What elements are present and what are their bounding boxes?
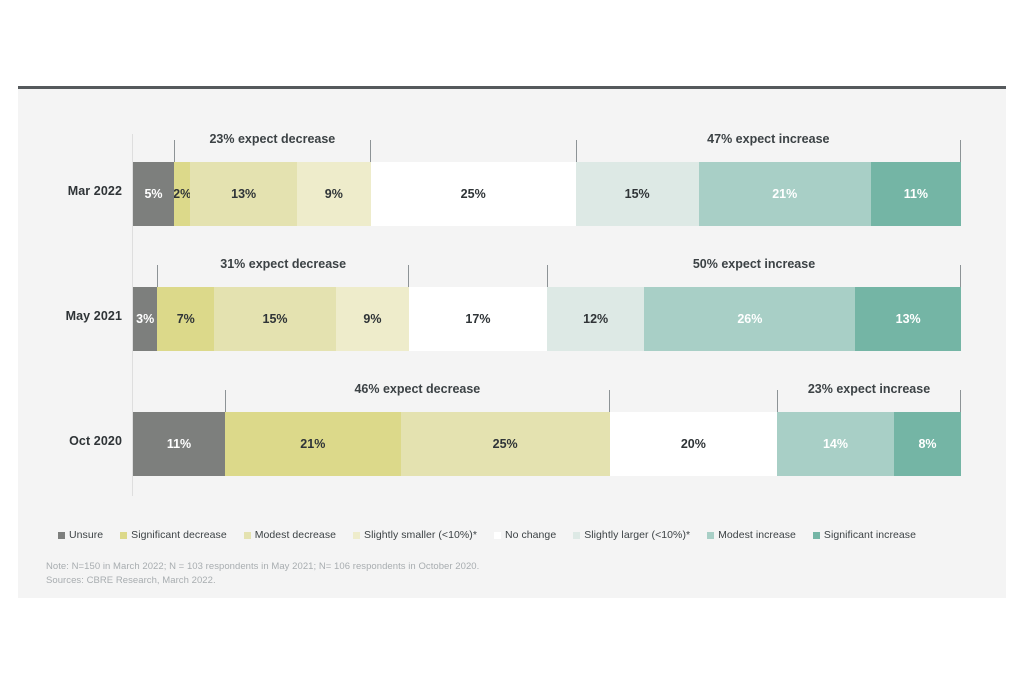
footnote-note: Note: N=150 in March 2022; N = 103 respo… — [46, 560, 986, 574]
legend-label: Slightly larger (<10%)* — [584, 529, 690, 541]
legend-label: Slightly smaller (<10%)* — [364, 529, 477, 541]
bar-segment[interactable]: 13% — [855, 287, 961, 351]
row-label: Oct 2020 — [18, 434, 122, 448]
legend-label: Modest decrease — [255, 529, 336, 541]
legend-item[interactable]: No change — [494, 529, 556, 541]
bar-segment[interactable]: 3% — [133, 287, 157, 351]
bar-segment[interactable]: 2% — [174, 162, 190, 226]
annotation-label-decrease: 31% expect decrease — [158, 257, 408, 271]
row-label: Mar 2022 — [18, 184, 122, 198]
legend-swatch-icon — [244, 532, 251, 539]
legend-label: Modest increase — [718, 529, 796, 541]
bar-segment[interactable]: 26% — [644, 287, 855, 351]
legend-swatch-icon — [813, 532, 820, 539]
legend-swatch-icon — [494, 532, 501, 539]
annotation-label-increase: 47% expect increase — [577, 132, 960, 146]
legend-item[interactable]: Modest increase — [707, 529, 796, 541]
legend-item[interactable]: Slightly larger (<10%)* — [573, 529, 690, 541]
bar-segment[interactable]: 13% — [190, 162, 297, 226]
chart-legend: UnsureSignificant decreaseModest decreas… — [58, 529, 978, 541]
bar-segment[interactable]: 8% — [894, 412, 961, 476]
bar-segment[interactable]: 11% — [871, 162, 961, 226]
annotation-label-decrease: 46% expect decrease — [226, 382, 609, 396]
annotation-bracket-increase: 23% expect increase — [777, 390, 961, 412]
bar-segment[interactable]: 12% — [547, 287, 644, 351]
bar-row: May 20213%7%15%9%17%12%26%13%31% expect … — [18, 259, 1006, 383]
legend-item[interactable]: Significant increase — [813, 529, 916, 541]
legend-swatch-icon — [120, 532, 127, 539]
annotation-label-increase: 50% expect increase — [548, 257, 960, 271]
bar-row: Mar 20225%2%13%9%25%15%21%11%23% expect … — [18, 134, 1006, 258]
legend-label: No change — [505, 529, 556, 541]
legend-swatch-icon — [353, 532, 360, 539]
bar-row: Oct 202011%21%25%20%14%8%46% expect decr… — [18, 384, 1006, 508]
bar-segment[interactable]: 9% — [297, 162, 371, 226]
annotation-bracket-decrease: 31% expect decrease — [157, 265, 409, 287]
bar-segment[interactable]: 25% — [401, 412, 610, 476]
legend-item[interactable]: Significant decrease — [120, 529, 227, 541]
chart-card: Mar 20225%2%13%9%25%15%21%11%23% expect … — [18, 86, 1006, 598]
annotation-label-increase: 23% expect increase — [778, 382, 960, 396]
stacked-bar: 11%21%25%20%14%8% — [133, 412, 961, 476]
footnotes: Note: N=150 in March 2022; N = 103 respo… — [46, 560, 986, 588]
annotation-bracket-decrease: 23% expect decrease — [174, 140, 371, 162]
legend-label: Unsure — [69, 529, 103, 541]
stacked-bar: 5%2%13%9%25%15%21%11% — [133, 162, 961, 226]
page-root: Mar 20225%2%13%9%25%15%21%11%23% expect … — [0, 0, 1024, 682]
bar-segment[interactable]: 15% — [576, 162, 699, 226]
legend-swatch-icon — [707, 532, 714, 539]
annotation-bracket-increase: 47% expect increase — [576, 140, 961, 162]
annotation-bracket-decrease: 46% expect decrease — [225, 390, 610, 412]
bar-segment[interactable]: 5% — [133, 162, 174, 226]
bar-segment[interactable]: 14% — [777, 412, 894, 476]
legend-item[interactable]: Modest decrease — [244, 529, 336, 541]
bar-segment[interactable]: 7% — [157, 287, 214, 351]
bar-segment[interactable]: 21% — [225, 412, 401, 476]
plot-area: Mar 20225%2%13%9%25%15%21%11%23% expect … — [18, 86, 1006, 496]
legend-item[interactable]: Unsure — [58, 529, 103, 541]
bar-segment[interactable]: 17% — [409, 287, 547, 351]
row-label: May 2021 — [18, 309, 122, 323]
legend-swatch-icon — [58, 532, 65, 539]
legend-item[interactable]: Slightly smaller (<10%)* — [353, 529, 477, 541]
bar-segment[interactable]: 20% — [610, 412, 777, 476]
stacked-bar: 3%7%15%9%17%12%26%13% — [133, 287, 961, 351]
legend-swatch-icon — [573, 532, 580, 539]
bar-segment[interactable]: 25% — [371, 162, 576, 226]
annotation-bracket-increase: 50% expect increase — [547, 265, 961, 287]
bar-segment[interactable]: 15% — [214, 287, 336, 351]
bar-segment[interactable]: 21% — [699, 162, 871, 226]
legend-label: Significant decrease — [131, 529, 227, 541]
footnote-sources: Sources: CBRE Research, March 2022. — [46, 574, 986, 588]
bar-segment[interactable]: 11% — [133, 412, 225, 476]
annotation-label-decrease: 23% expect decrease — [175, 132, 370, 146]
bar-segment[interactable]: 9% — [336, 287, 409, 351]
legend-label: Significant increase — [824, 529, 916, 541]
